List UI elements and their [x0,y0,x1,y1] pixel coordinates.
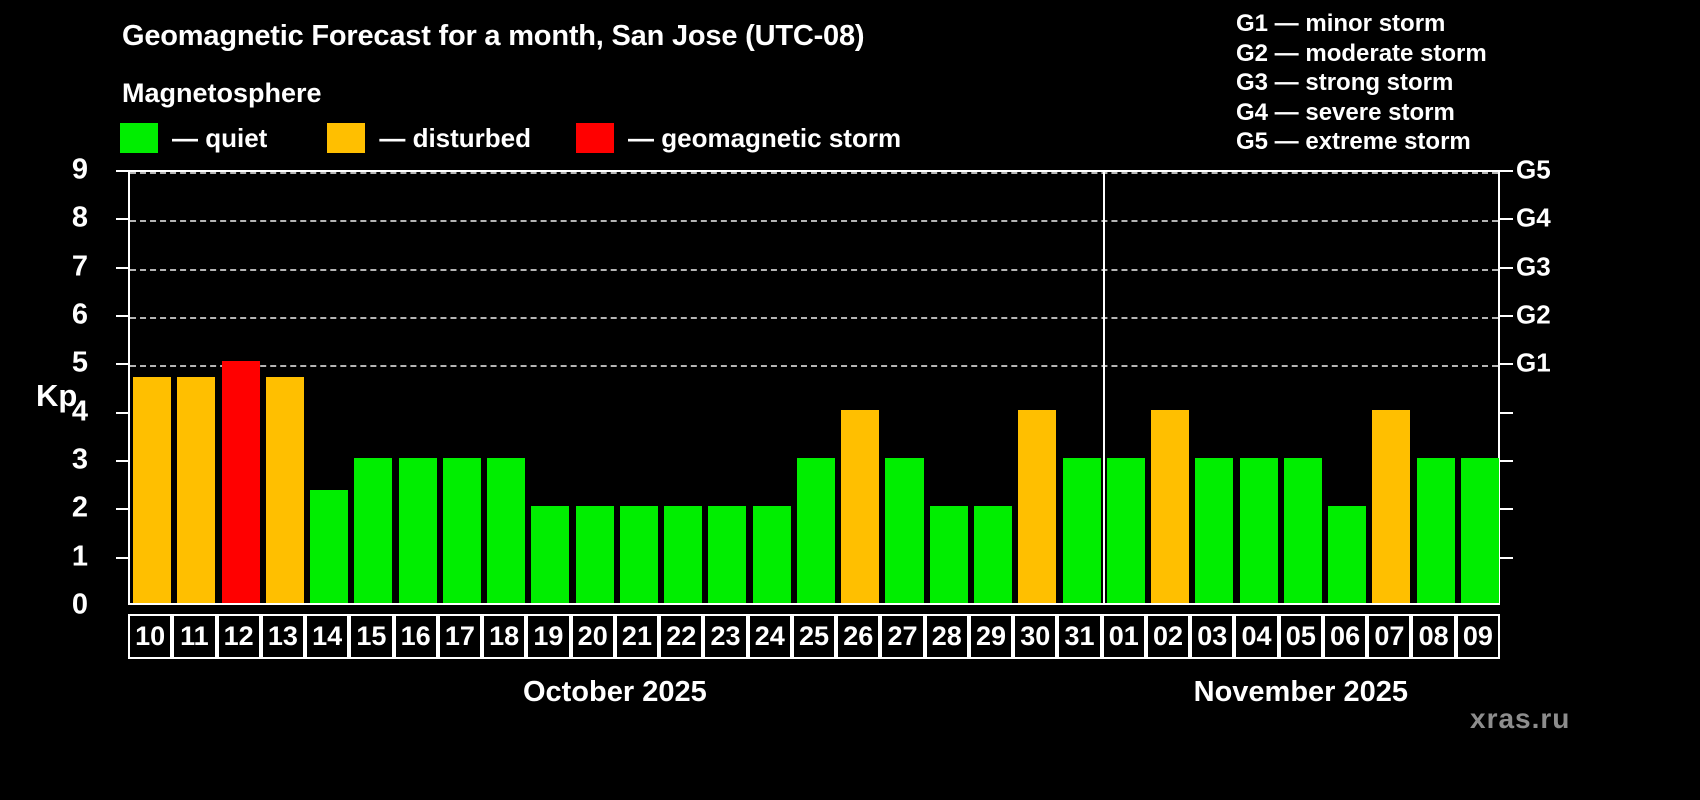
day-cell-14[interactable]: 14 [305,614,349,659]
gridline [130,172,1498,174]
y-tick-label: 5 [48,347,88,380]
bar-day-19[interactable] [531,506,569,603]
month-caption-november: November 2025 [1102,676,1500,709]
gscale-legend-line: G3 — strong storm [1236,68,1487,98]
y-tick-label: 8 [48,202,88,235]
legend-swatch-quiet-icon [120,123,158,153]
day-cell-25[interactable]: 25 [792,614,836,659]
day-cell-13[interactable]: 13 [261,614,305,659]
day-cell-27[interactable]: 27 [880,614,924,659]
bar-day-11[interactable] [177,377,215,603]
bar-day-06[interactable] [1328,506,1366,603]
y-tick-mark [116,557,128,559]
day-cell-23[interactable]: 23 [703,614,747,659]
bar-day-16[interactable] [399,458,437,603]
legend-label-quiet: — quiet [172,123,267,154]
geomagnetic-forecast-chart: Geomagnetic Forecast for a month, San Jo… [0,0,1700,800]
y-tick-mark [116,170,128,172]
g-tick-mark [1500,460,1513,462]
bar-day-18[interactable] [487,458,525,603]
day-cell-07[interactable]: 07 [1367,614,1411,659]
bar-day-23[interactable] [708,506,746,603]
day-cell-24[interactable]: 24 [748,614,792,659]
bar-day-24[interactable] [753,506,791,603]
legend-label-disturbed: — disturbed [379,123,531,154]
bar-day-10[interactable] [133,377,171,603]
gscale-legend-line: G4 — severe storm [1236,98,1487,128]
y-tick-mark [116,315,128,317]
day-cell-20[interactable]: 20 [571,614,615,659]
month-divider [1103,172,1105,603]
day-cell-30[interactable]: 30 [1013,614,1057,659]
plot-inner [130,172,1498,603]
g-tick-mark [1500,218,1513,220]
bar-day-04[interactable] [1240,458,1278,603]
day-cell-06[interactable]: 06 [1323,614,1367,659]
month-caption-october: October 2025 [128,676,1102,709]
g-tick-mark [1500,315,1513,317]
day-cell-28[interactable]: 28 [925,614,969,659]
day-cell-16[interactable]: 16 [394,614,438,659]
bar-day-25[interactable] [797,458,835,603]
gridline [130,220,1498,222]
g-tick-mark [1500,412,1513,414]
gridline [130,269,1498,271]
g-tick-label-g1: G1 [1516,348,1551,379]
y-tick-mark [116,412,128,414]
y-tick-label: 7 [48,250,88,283]
day-cell-04[interactable]: 04 [1234,614,1278,659]
y-tick-label: 1 [48,540,88,573]
y-tick-label: 2 [48,492,88,525]
day-cell-17[interactable]: 17 [438,614,482,659]
y-tick-label: 6 [48,299,88,332]
bar-day-09[interactable] [1461,458,1499,603]
gscale-legend-line: G2 — moderate storm [1236,39,1487,69]
g-tick-label-g5: G5 [1516,155,1551,186]
day-cell-01[interactable]: 01 [1102,614,1146,659]
gscale-legend-line: G1 — minor storm [1236,9,1487,39]
day-cell-19[interactable]: 19 [526,614,570,659]
bar-day-01[interactable] [1107,458,1145,603]
bar-day-05[interactable] [1284,458,1322,603]
y-tick-label: 4 [48,395,88,428]
g-tick-mark [1500,267,1513,269]
g-tick-mark [1500,508,1513,510]
plot-area [128,170,1500,605]
bar-day-20[interactable] [576,506,614,603]
bar-day-12[interactable] [222,361,260,603]
day-cell-18[interactable]: 18 [482,614,526,659]
gscale-legend: G1 — minor storm G2 — moderate storm G3 … [1236,9,1487,157]
bar-day-29[interactable] [974,506,1012,603]
day-cell-09[interactable]: 09 [1456,614,1500,659]
legend-swatch-disturbed-icon [327,123,365,153]
gscale-legend-line: G5 — extreme storm [1236,127,1487,157]
y-tick-label: 9 [48,154,88,187]
bar-day-21[interactable] [620,506,658,603]
g-tick-mark [1500,363,1513,365]
day-cell-31[interactable]: 31 [1057,614,1101,659]
bar-day-15[interactable] [354,458,392,603]
day-cell-08[interactable]: 08 [1411,614,1455,659]
bar-day-22[interactable] [664,506,702,603]
page-title: Geomagnetic Forecast for a month, San Jo… [122,20,864,53]
day-cell-12[interactable]: 12 [217,614,261,659]
y-tick-mark [116,363,128,365]
y-tick-label: 0 [48,589,88,622]
day-cell-26[interactable]: 26 [836,614,880,659]
bar-day-02[interactable] [1151,410,1189,603]
bar-day-26[interactable] [841,410,879,603]
day-cell-21[interactable]: 21 [615,614,659,659]
day-cell-11[interactable]: 11 [172,614,216,659]
legend-item-quiet: — quiet [120,123,267,154]
g-tick-label-g3: G3 [1516,251,1551,282]
bar-day-03[interactable] [1195,458,1233,603]
day-cell-02[interactable]: 02 [1146,614,1190,659]
gridline [130,317,1498,319]
watermark: xras.ru [1470,703,1570,735]
day-axis: 1011121314151617181920212223242526272829… [128,614,1500,659]
y-tick-mark [116,460,128,462]
g-tick-mark [1500,170,1513,172]
gridline [130,365,1498,367]
bar-day-28[interactable] [930,506,968,603]
magnetosphere-legend: — quiet — disturbed — geomagnetic storm [120,121,901,155]
legend-swatch-storm-icon [576,123,614,153]
legend-label-storm: — geomagnetic storm [628,123,901,154]
y-tick-mark [116,508,128,510]
legend-item-disturbed: — disturbed [327,123,531,154]
day-cell-10[interactable]: 10 [128,614,172,659]
day-cell-05[interactable]: 05 [1279,614,1323,659]
y-tick-mark [116,218,128,220]
bar-day-13[interactable] [266,377,304,603]
y-tick-mark [116,267,128,269]
day-cell-03[interactable]: 03 [1190,614,1234,659]
bar-day-27[interactable] [885,458,923,603]
g-tick-mark [1500,557,1513,559]
legend-item-storm: — geomagnetic storm [576,123,901,154]
day-cell-29[interactable]: 29 [969,614,1013,659]
bar-day-08[interactable] [1417,458,1455,603]
bar-day-17[interactable] [443,458,481,603]
day-cell-15[interactable]: 15 [349,614,393,659]
bar-day-07[interactable] [1372,410,1410,603]
bar-day-30[interactable] [1018,410,1056,603]
legend-heading: Magnetosphere [122,78,322,109]
y-tick-label: 3 [48,444,88,477]
bar-day-31[interactable] [1063,458,1101,603]
g-tick-label-g4: G4 [1516,203,1551,234]
g-tick-label-g2: G2 [1516,300,1551,331]
day-cell-22[interactable]: 22 [659,614,703,659]
bar-day-14[interactable] [310,490,348,603]
